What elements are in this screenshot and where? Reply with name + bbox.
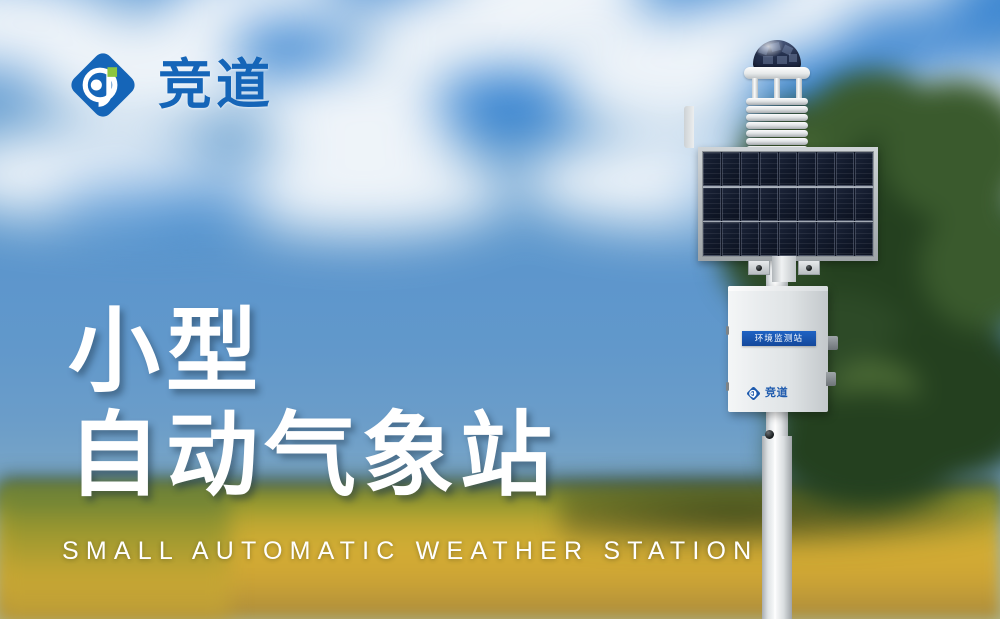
- mast-lower-section: [762, 436, 792, 619]
- subtitle: SMALL AUTOMATIC WEATHER STATION: [62, 537, 758, 566]
- bracket-bolt-icon: [756, 265, 762, 271]
- control-box-top-edge: [728, 286, 828, 291]
- weather-station-product: 环境监测站 竞道: [690, 28, 890, 619]
- control-box-brand: 竞道: [746, 386, 788, 401]
- control-box: 环境监测站 竞道: [728, 286, 828, 412]
- control-box-connector-tab: [828, 336, 838, 350]
- control-box-side-lip: [684, 106, 694, 148]
- panel-mount-bracket: [772, 256, 796, 282]
- control-box-label: 环境监测站: [742, 331, 816, 346]
- headline-line-1: 小型: [68, 306, 558, 400]
- jingdao-diamond-logo-icon: [746, 386, 761, 401]
- brand-logo: 竞道: [66, 48, 274, 122]
- bracket-bolt-icon: [806, 265, 812, 271]
- headline-line-2: 自动气象站: [68, 410, 558, 504]
- jingdao-diamond-logo-icon: [66, 48, 140, 122]
- headline: 小型 自动气象站: [68, 306, 558, 504]
- radiation-shield-icon: [746, 98, 808, 154]
- mast-bolt-icon: [765, 430, 774, 439]
- control-box-brand-name: 竞道: [765, 388, 788, 399]
- control-box-connector-tab: [826, 372, 836, 386]
- solar-panel-icon: [698, 147, 878, 261]
- brand-name: 竞道: [158, 58, 274, 112]
- product-banner: 竞道 小型 自动气象站 SMALL AUTOMATIC WEATHER STAT…: [0, 0, 1000, 619]
- ultrasonic-weather-sensor-icon: [753, 40, 801, 70]
- mast-seam: [774, 436, 776, 619]
